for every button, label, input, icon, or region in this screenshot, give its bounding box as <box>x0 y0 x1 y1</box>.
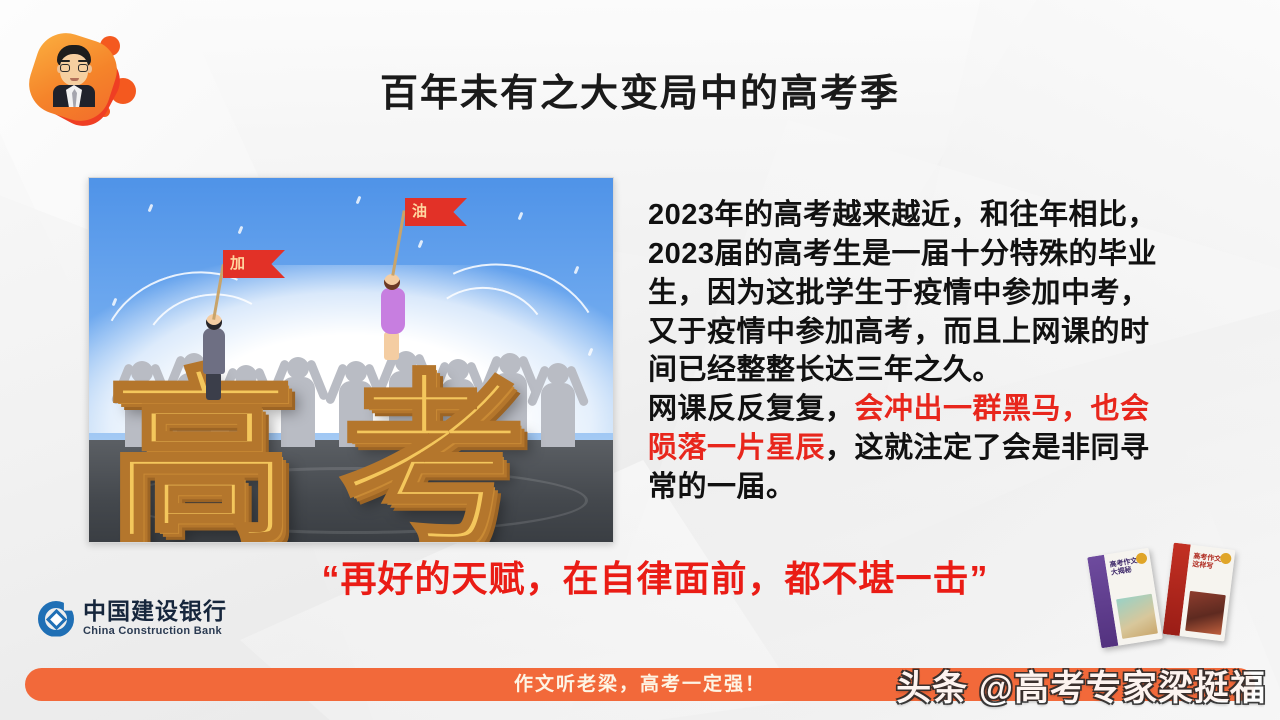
slide-canvas: 百年未有之大变局中的高考季 高 考 <box>0 0 1280 720</box>
body-line-5: 间已经整整长达三年之久。 <box>648 354 1002 386</box>
body-line-6-plain: 网课反反复复， <box>648 393 855 425</box>
page-title: 百年未有之大变局中的高考季 <box>0 62 1280 117</box>
wood-character-gao: 高 <box>107 382 295 536</box>
body-line-2: 2023届的高考生是一届十分特殊的毕业 <box>648 238 1157 270</box>
ccb-logo-text: 中国建设银行 China Construction Bank <box>83 600 227 637</box>
book-cover-purple: 高考作文大揭秘 <box>1087 548 1163 649</box>
channel-watermark: 头条 @高考专家梁挺福 <box>896 660 1266 711</box>
body-line-7-plain: ，这就注定了会是非同寻 <box>825 432 1150 464</box>
body-line-7-highlight: 陨落一片星辰 <box>648 432 825 464</box>
book-cover-red: 高考作文这样写 <box>1163 543 1236 642</box>
body-line-4: 又于疫情中参加高考，而且上网课的时 <box>648 316 1150 348</box>
body-line-3: 生，因为这批学生于疫情中参加中考， <box>648 277 1150 309</box>
gaokao-cartoon-illustration: 高 考 加 油 <box>88 177 614 543</box>
body-line-6-highlight: 会冲出一群黑马，也会 <box>855 393 1150 425</box>
ccb-name-en: China Construction Bank <box>83 626 227 637</box>
body-line-8: 常的一届。 <box>648 471 796 503</box>
body-paragraph: 2023年的高考越来越近，和往年相比， 2023届的高考生是一届十分特殊的毕业 … <box>648 196 1232 507</box>
ccb-name-cn: 中国建设银行 <box>83 600 227 623</box>
ccb-logo-icon <box>38 601 74 637</box>
book-promo-images: 高考作文大揭秘 高考作文这样写 <box>1072 540 1272 658</box>
ccb-sponsor-logo: 中国建设银行 China Construction Bank <box>38 600 227 637</box>
wood-character-kao: 考 <box>339 386 527 540</box>
body-line-1: 2023年的高考越来越近，和往年相比， <box>648 199 1157 231</box>
